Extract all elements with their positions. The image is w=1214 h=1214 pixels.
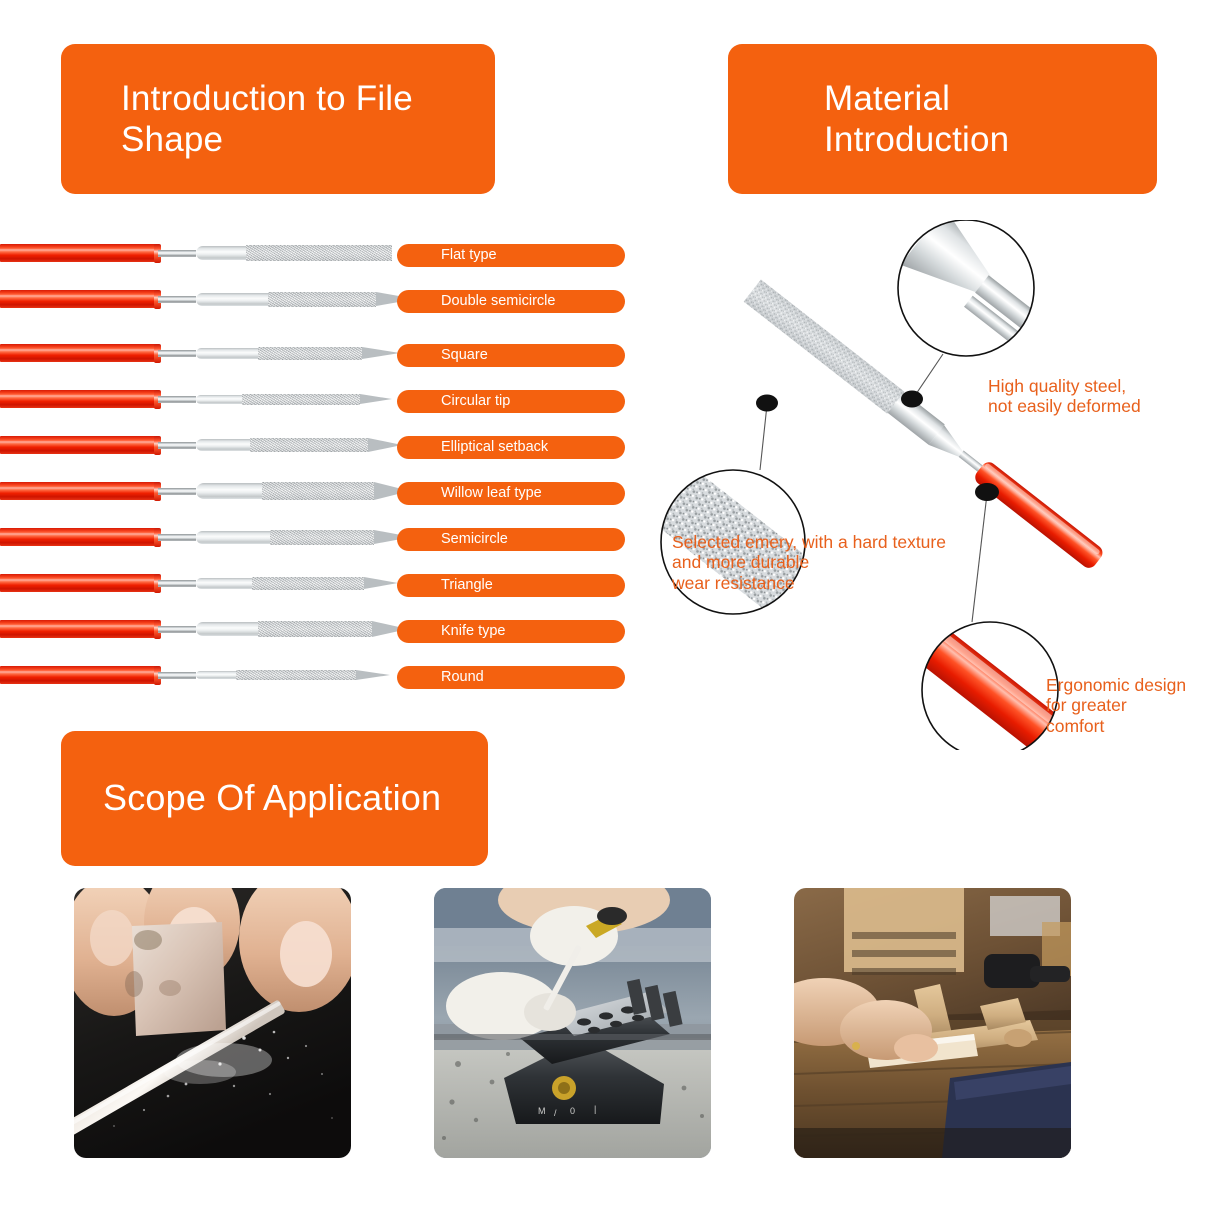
file-shape-label-semicircle: Semicircle [397, 528, 625, 551]
callout-text-ergonomic: Ergonomic design for greater comfort [1046, 675, 1186, 736]
svg-text:0: 0 [570, 1106, 575, 1116]
file-tip [364, 577, 398, 589]
file-tip [362, 347, 400, 359]
banner-scope-title: Scope Of Application [103, 777, 441, 819]
file-tang [158, 350, 196, 357]
magnifier-steel-tip [898, 220, 1099, 385]
file-handle [0, 290, 158, 308]
file-shape-label-circular-tip: Circular tip [397, 390, 625, 413]
file-illustration-triangle [0, 560, 392, 606]
banner-scope-of-application: Scope Of Application [61, 731, 488, 866]
file-tang [158, 488, 196, 495]
file-illustration-willow-leaf [0, 468, 392, 514]
file-shape-label-knife: Knife type [397, 620, 625, 643]
file-illustration-double-semicircle [0, 276, 392, 322]
callout-dots [756, 391, 999, 502]
file-shape-label-elliptical-setback: Elliptical setback [397, 436, 625, 459]
file-blade [252, 577, 364, 590]
file-tang [158, 626, 196, 633]
application-photo-stone-filing [74, 888, 351, 1158]
file-blade [246, 245, 392, 261]
file-illustration-square [0, 330, 392, 376]
file-tip [360, 394, 392, 404]
file-shape-label-willow-leaf: Willow leaf type [397, 482, 625, 505]
file-handle [0, 528, 158, 546]
callout-dot-ergonomic [975, 483, 999, 501]
file-blade [236, 670, 356, 680]
file-handle [0, 390, 158, 408]
svg-text:|: | [594, 1104, 596, 1114]
file-illustration-semicircle [0, 514, 392, 560]
callout-text-steel: High quality steel, not easily deformed [988, 376, 1141, 417]
banner-file-shape-title: Introduction to File Shape [121, 78, 413, 161]
file-shape-list: Flat typeDouble semicircleSquareCircular… [0, 230, 640, 700]
file-blade [270, 530, 374, 545]
file-handle [0, 574, 158, 592]
material-introduction-diagram: High quality steel, not easily deformed … [650, 220, 1214, 750]
file-illustration-elliptical-setback [0, 422, 392, 468]
svg-text:M: M [538, 1106, 546, 1116]
file-tang [158, 672, 196, 679]
application-photo-metal-deburring: M/0| [434, 888, 711, 1158]
callout-dot-steel [901, 391, 923, 408]
callout-text-emery: Selected emery, with a hard texture and … [672, 532, 946, 593]
file-handle [0, 666, 158, 684]
file-handle [0, 244, 158, 262]
file-illustration-round [0, 652, 392, 698]
file-tang [158, 250, 196, 257]
file-illustration-flat [0, 230, 392, 276]
callout-dot-emery [756, 395, 778, 412]
file-blade [250, 438, 368, 452]
file-tang [158, 296, 196, 303]
file-blade [242, 394, 360, 405]
file-blade [258, 621, 372, 637]
application-photo-woodworking [794, 888, 1071, 1158]
file-tang [158, 534, 196, 541]
file-shape-label-square: Square [397, 344, 625, 367]
file-handle [0, 482, 158, 500]
file-blade [258, 347, 362, 360]
material-diagram-svg [650, 220, 1214, 750]
banner-material-introduction: Material Introduction [728, 44, 1157, 194]
file-illustration-circular-tip [0, 376, 392, 422]
file-handle [0, 344, 158, 362]
file-shape-label-triangle: Triangle [397, 574, 625, 597]
file-shape-label-flat: Flat type [397, 244, 625, 267]
file-blade [268, 292, 376, 307]
file-tang [158, 396, 196, 403]
file-handle [0, 620, 158, 638]
file-illustration-knife [0, 606, 392, 652]
file-tip [356, 670, 390, 680]
file-shape-label-round: Round [397, 666, 625, 689]
banner-material-title: Material Introduction [824, 78, 1009, 161]
file-blade [262, 482, 374, 500]
file-tang [158, 442, 196, 449]
file-shape-label-double-semicircle: Double semicircle [397, 290, 625, 313]
file-handle [0, 436, 158, 454]
banner-introduction-to-file-shape: Introduction to File Shape [61, 44, 495, 194]
file-tang [158, 580, 196, 587]
